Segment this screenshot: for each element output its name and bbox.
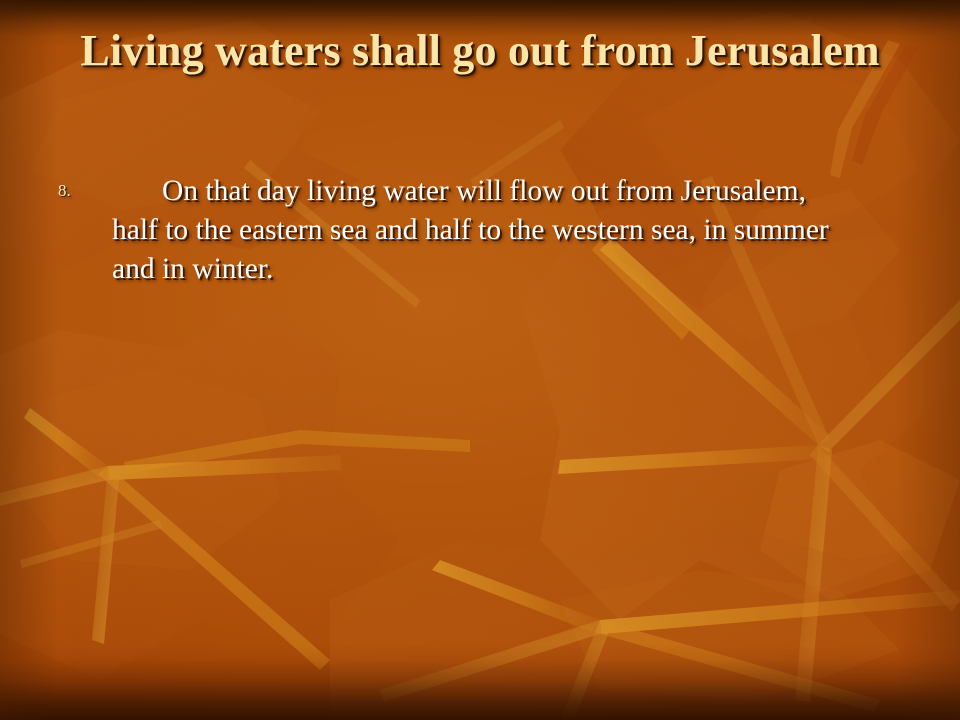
slide-title: Living waters shall go out from Jerusale…	[56, 26, 904, 75]
list-marker: 8.	[58, 182, 71, 199]
slide-canvas: Living waters shall go out from Jerusale…	[0, 0, 960, 720]
body-paragraph: On that day living water will flow out f…	[112, 172, 850, 290]
slide-content: Living waters shall go out from Jerusale…	[0, 0, 960, 720]
slide-body: 8. On that day living water will flow ou…	[48, 172, 850, 290]
list-item: 8. On that day living water will flow ou…	[48, 172, 850, 290]
